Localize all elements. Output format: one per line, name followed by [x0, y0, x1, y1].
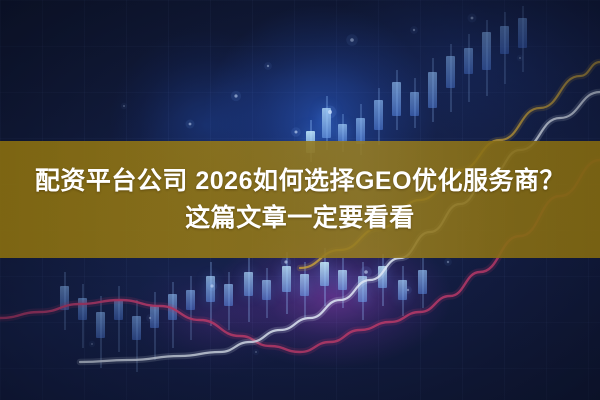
- headline-line-1: 配资平台公司 2026如何选择GEO优化服务商？: [35, 166, 565, 197]
- headline-line-2: 这篇文章一定要看看: [185, 203, 415, 234]
- banner-canvas: 配资平台公司 2026如何选择GEO优化服务商？ 这篇文章一定要看看: [0, 0, 600, 400]
- headline-block: 配资平台公司 2026如何选择GEO优化服务商？ 这篇文章一定要看看: [0, 141, 600, 258]
